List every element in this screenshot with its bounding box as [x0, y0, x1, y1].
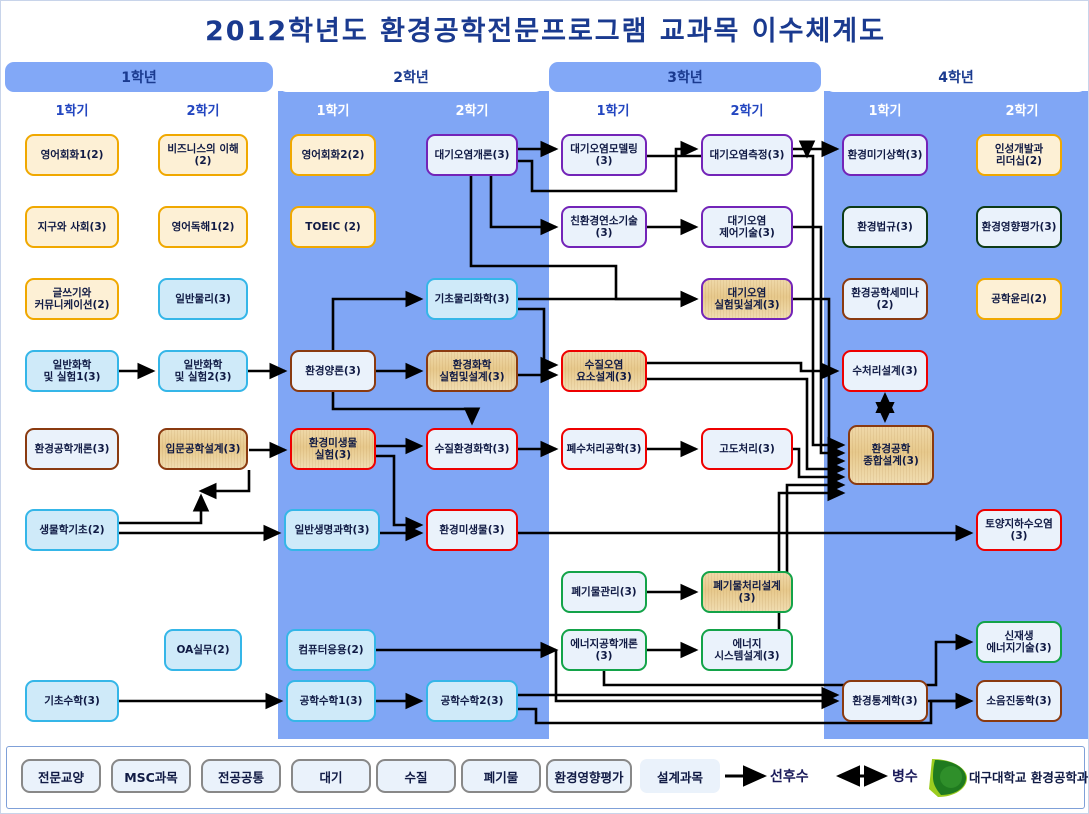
course-box[interactable]: 대기오염개론(3): [426, 134, 518, 176]
course-box[interactable]: 환경공학개론(3): [25, 428, 119, 470]
course-box[interactable]: 환경미생물실험(3): [290, 428, 376, 470]
curriculum-flowchart-page: 2012학년도 환경공학전문프로그램 교과목 이수체계도 1학년 2학년 3학년…: [0, 0, 1089, 814]
course-box[interactable]: 환경미기상학(3): [842, 134, 928, 176]
course-box[interactable]: 기초수학(3): [25, 680, 119, 722]
course-box[interactable]: TOEIC (2): [290, 206, 376, 248]
course-box[interactable]: 컴퓨터응용(2): [286, 629, 376, 671]
course-box[interactable]: 환경화학실험및설계(3): [426, 350, 518, 392]
course-box[interactable]: 신재생에너지기술(3): [976, 621, 1062, 663]
course-box[interactable]: 대기오염실험및설계(3): [701, 278, 793, 320]
course-box[interactable]: 환경영향평가(3): [976, 206, 1062, 248]
course-box[interactable]: 지구와 사회(3): [25, 206, 119, 248]
course-box[interactable]: 수처리설계(3): [842, 350, 928, 392]
course-box[interactable]: 폐기물관리(3): [561, 571, 647, 613]
course-box[interactable]: 환경법규(3): [842, 206, 928, 248]
course-box[interactable]: 일반물리(3): [158, 278, 248, 320]
course-box[interactable]: 공학윤리(2): [976, 278, 1062, 320]
course-box[interactable]: 폐기물처리설계(3): [701, 571, 793, 613]
course-box[interactable]: 수질환경화학(3): [426, 428, 518, 470]
course-box[interactable]: 환경양론(3): [290, 350, 376, 392]
course-box[interactable]: 고도처리(3): [701, 428, 793, 470]
course-box[interactable]: 소음진동학(3): [976, 680, 1062, 722]
course-box[interactable]: 친환경연소기술(3): [561, 206, 647, 248]
course-box[interactable]: 환경공학세미나(2): [842, 278, 928, 320]
course-box[interactable]: 에너지공학개론(3): [561, 629, 647, 671]
course-box[interactable]: 영어독해1(2): [158, 206, 248, 248]
course-box[interactable]: OA실무(2): [164, 629, 242, 671]
course-box[interactable]: 글쓰기와커뮤니케이션(2): [25, 278, 119, 320]
course-box[interactable]: 토양지하수오염(3): [976, 509, 1062, 551]
course-box[interactable]: 에너지시스템설계(3): [701, 629, 793, 671]
course-box[interactable]: 공학수학1(3): [286, 680, 376, 722]
course-box[interactable]: 영어회화2(2): [290, 134, 376, 176]
course-box[interactable]: 공학수학2(3): [426, 680, 518, 722]
course-box[interactable]: 수질오염요소설계(3): [561, 350, 647, 392]
course-box[interactable]: 환경공학종합설계(3): [848, 425, 934, 485]
course-box[interactable]: 인성개발과리더십(2): [976, 134, 1062, 176]
course-box[interactable]: 대기오염제어기술(3): [701, 206, 793, 248]
course-box[interactable]: 비즈니스의 이해(2): [158, 134, 248, 176]
course-box[interactable]: 입문공학설계(3): [158, 428, 248, 470]
course-box[interactable]: 일반화학및 실험2(3): [158, 350, 248, 392]
course-box[interactable]: 기초물리화학(3): [426, 278, 518, 320]
course-box[interactable]: 대기오염모델링(3): [561, 134, 647, 176]
course-box[interactable]: 생물학기초(2): [25, 509, 119, 551]
course-box[interactable]: 영어회화1(2): [25, 134, 119, 176]
course-box[interactable]: 일반화학및 실험1(3): [25, 350, 119, 392]
course-box[interactable]: 환경미생물(3): [426, 509, 518, 551]
course-box[interactable]: 폐수처리공학(3): [561, 428, 647, 470]
course-box[interactable]: 환경통계학(3): [842, 680, 928, 722]
course-box[interactable]: 일반생명과학(3): [284, 509, 380, 551]
course-box[interactable]: 대기오염측정(3): [701, 134, 793, 176]
